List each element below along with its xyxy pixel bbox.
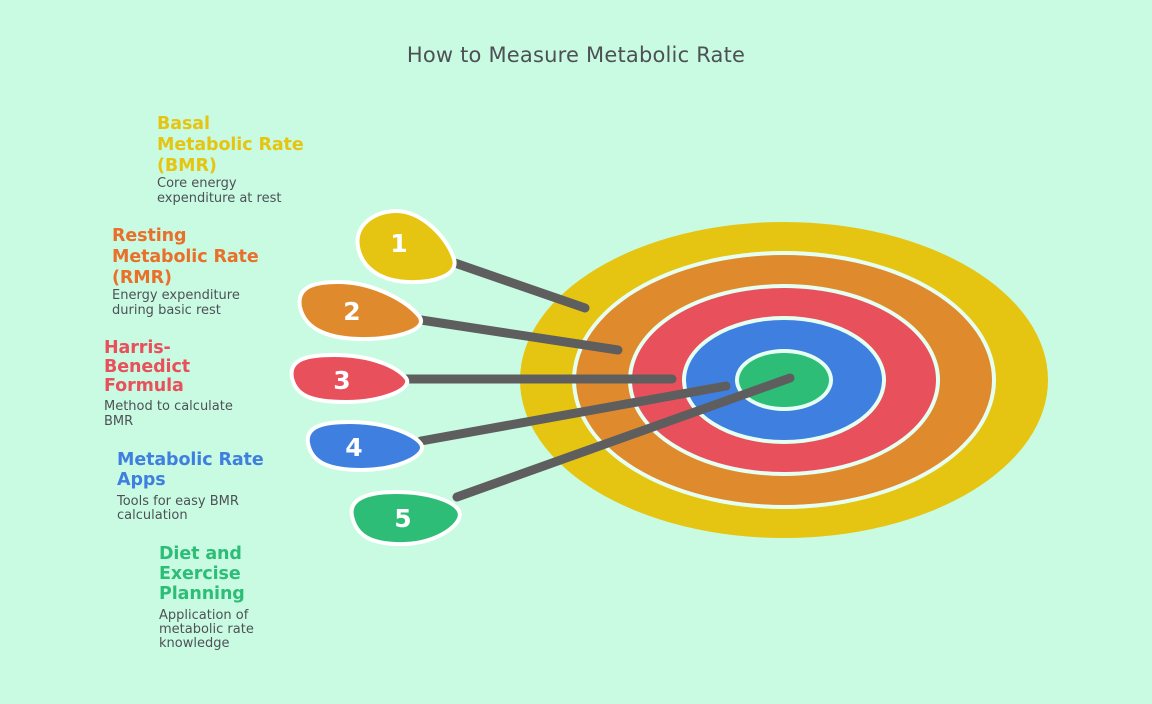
marker-5-number: 5: [394, 504, 411, 533]
legend-item-2-title-line-1: Resting: [112, 226, 186, 246]
legend-item-5-desc-line-3: knowledge: [159, 636, 229, 651]
legend-item-1-title-line-2: Metabolic Rate: [157, 135, 304, 155]
legend-item-2-title-line-2: Metabolic Rate: [112, 247, 259, 267]
legend-item-3-title-line-2: Benedict: [104, 357, 190, 377]
legend-item-2-desc-line-1: Energy expenditure: [112, 288, 240, 303]
legend-item-5-desc-line-1: Application of: [159, 608, 249, 623]
page-title: How to Measure Metabolic Rate: [407, 43, 745, 67]
legend-item-1-desc-line-2: expenditure at rest: [157, 191, 281, 206]
legend-item-3-desc-line-1: Method to calculate: [104, 399, 233, 414]
legend-item-4-title-line-1: Metabolic Rate: [117, 450, 264, 470]
legend-item-5-title-line-2: Exercise: [159, 564, 241, 584]
legend-item-4-title-line-2: Apps: [117, 470, 166, 490]
marker-1-number: 1: [390, 229, 407, 258]
legend-item-3-title-line-3: Formula: [104, 376, 184, 396]
legend-item-2-desc-line-2: during basic rest: [112, 303, 221, 318]
legend-item-5-title-line-3: Planning: [159, 584, 245, 604]
infographic-canvas: How to Measure Metabolic Rate 1 2 3: [0, 0, 1152, 704]
legend-item-5-desc-line-2: metabolic rate: [159, 622, 254, 637]
legend-item-4-desc-line-2: calculation: [117, 508, 188, 523]
legend-item-1-desc-line-1: Core energy: [157, 176, 237, 191]
legend-item-1-title-line-1: Basal: [157, 114, 210, 134]
legend-item-3-desc-line-2: BMR: [104, 414, 133, 429]
legend-item-5-title-line-1: Diet and: [159, 544, 242, 564]
marker-2-number: 2: [343, 297, 360, 326]
marker-4-number: 4: [345, 433, 362, 462]
marker-3-number: 3: [333, 366, 350, 395]
legend-item-1-title-line-3: (BMR): [157, 156, 217, 176]
legend-item-4-desc-line-1: Tools for easy BMR: [116, 494, 239, 509]
legend-item-5[interactable]: Diet and Exercise Planning Application o…: [159, 544, 254, 651]
legend-item-3-title-line-1: Harris-: [104, 338, 171, 358]
legend-item-2-title-line-3: (RMR): [112, 268, 172, 288]
